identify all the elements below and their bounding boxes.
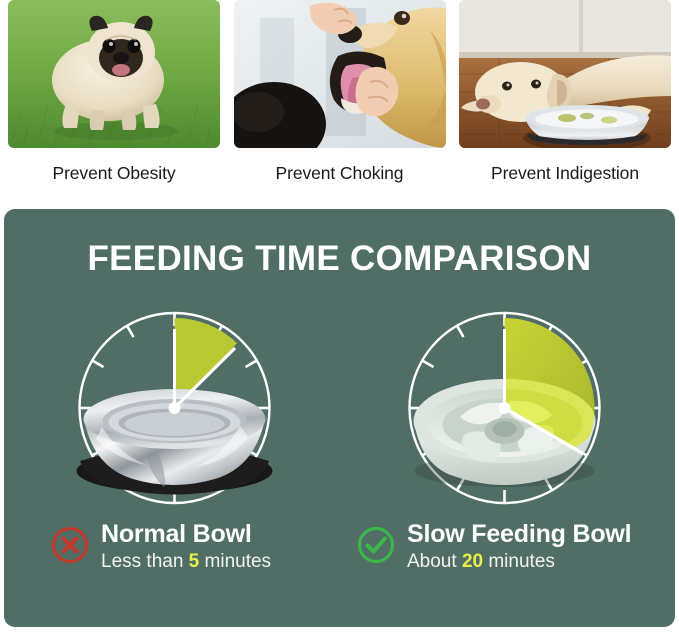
benefit-label: Prevent Indigestion (491, 163, 639, 184)
infographic-page: Prevent Obesity (0, 0, 679, 636)
caption-sub-suffix: minutes (199, 551, 271, 572)
caption-slow-feeding-bowl: Slow Feeding Bowl About 20 minutes (356, 521, 631, 573)
caption-text: Normal Bowl Less than 5 minutes (101, 521, 271, 573)
caption-title: Slow Feeding Bowl (407, 521, 631, 547)
benefit-photo-indigestion (459, 0, 671, 148)
caption-title: Normal Bowl (101, 521, 271, 547)
caption-normal-bowl: Normal Bowl Less than 5 minutes (50, 521, 271, 573)
feeding-time-comparison-panel: FEEDING TIME COMPARISON (4, 209, 675, 627)
benefit-label: Prevent Obesity (53, 163, 176, 184)
benefits-row: Prevent Obesity (0, 0, 679, 196)
caption-sub-value: 20 (462, 551, 483, 572)
captions-row: Normal Bowl Less than 5 minutes Slow Fee… (4, 521, 675, 607)
caption-sub-prefix: Less than (101, 551, 189, 572)
caption-subtitle: Less than 5 minutes (101, 551, 271, 573)
caption-subtitle: About 20 minutes (407, 551, 631, 573)
benefit-photo-choking (234, 0, 446, 148)
caption-sub-suffix: minutes (483, 551, 555, 572)
gauges-row (4, 301, 675, 516)
gauge-slow-feeding-bowl (392, 301, 617, 516)
benefit-item: Prevent Choking (234, 0, 446, 196)
panel-title: FEEDING TIME COMPARISON (4, 239, 675, 279)
benefit-photo-obesity (8, 0, 220, 148)
caption-text: Slow Feeding Bowl About 20 minutes (407, 521, 631, 573)
gauge-normal-bowl (62, 301, 287, 516)
benefit-item: Prevent Indigestion (459, 0, 671, 196)
benefit-label: Prevent Choking (276, 163, 404, 184)
benefit-item: Prevent Obesity (8, 0, 220, 196)
caption-sub-value: 5 (189, 551, 200, 572)
caption-sub-prefix: About (407, 551, 462, 572)
circle-check-icon (356, 525, 396, 565)
circle-x-icon (50, 525, 90, 565)
